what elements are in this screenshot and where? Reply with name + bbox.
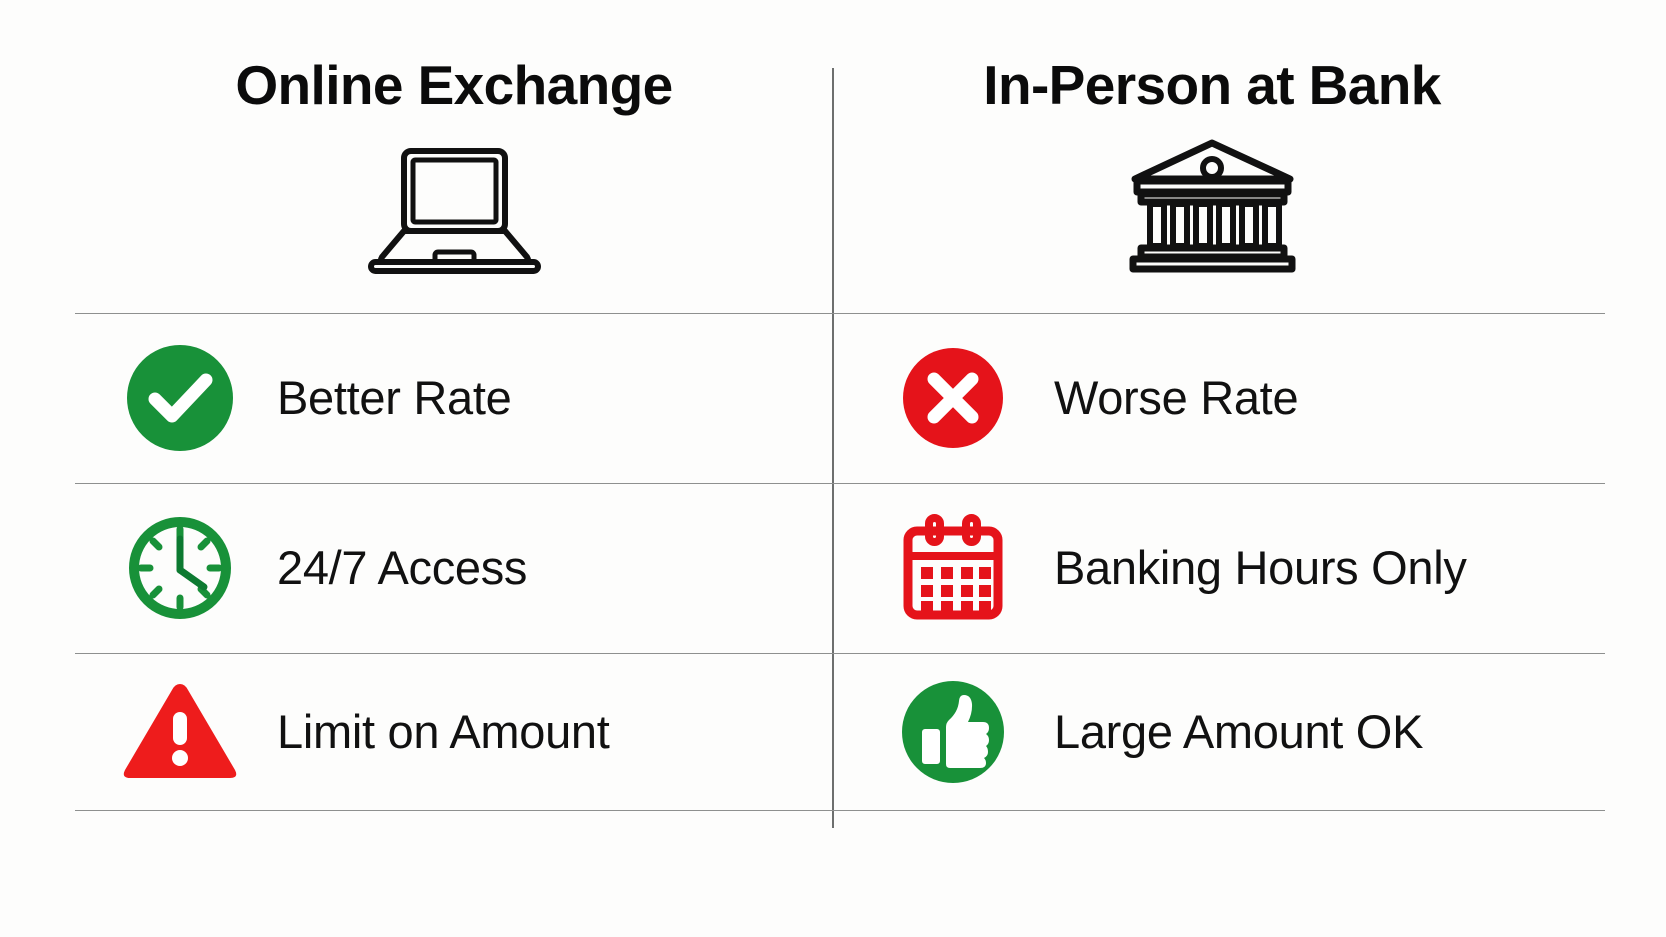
column-header-online-exchange: Online Exchange: [75, 30, 833, 313]
laptop-icon: [362, 135, 547, 275]
table-row: Limit on Amount Large Amount OK: [75, 653, 1605, 810]
comparison-infographic: Online Exchange In-Person at Bank: [0, 0, 1666, 937]
feature-label: 24/7 Access: [277, 543, 527, 592]
feature-label: Limit on Amount: [277, 707, 610, 756]
column-header-in-person-bank: In-Person at Bank: [833, 30, 1591, 313]
table-row: 24/7 Access: [75, 483, 1605, 653]
cell-bank-large-amount-ok: Large Amount OK: [833, 653, 1591, 810]
calendar-icon: [868, 513, 1038, 623]
table-row: Better Rate Worse Rate: [75, 313, 1605, 483]
bank-building-icon: [1125, 135, 1300, 275]
row-divider-bottom: [75, 810, 1605, 811]
comparison-table: Online Exchange In-Person at Bank: [75, 30, 1605, 865]
cell-bank-banking-hours: Banking Hours Only: [833, 483, 1591, 653]
clock-icon: [95, 513, 265, 623]
warning-triangle-icon: [95, 678, 265, 786]
cell-online-limit-on-amount: Limit on Amount: [75, 653, 833, 810]
table-header-row: Online Exchange In-Person at Bank: [75, 30, 1605, 313]
check-circle-icon: [95, 342, 265, 454]
feature-label: Better Rate: [277, 373, 511, 422]
feature-label: Banking Hours Only: [1054, 543, 1467, 592]
cell-online-24-7-access: 24/7 Access: [75, 483, 833, 653]
x-circle-icon: [868, 346, 1038, 450]
page-title-right: In-Person at Bank: [983, 58, 1440, 113]
cell-bank-worse-rate: Worse Rate: [833, 313, 1591, 483]
feature-label: Large Amount OK: [1054, 707, 1423, 756]
cell-online-better-rate: Better Rate: [75, 313, 833, 483]
thumbs-up-circle-icon: [868, 679, 1038, 785]
page-title-left: Online Exchange: [235, 58, 672, 113]
feature-label: Worse Rate: [1054, 373, 1298, 422]
